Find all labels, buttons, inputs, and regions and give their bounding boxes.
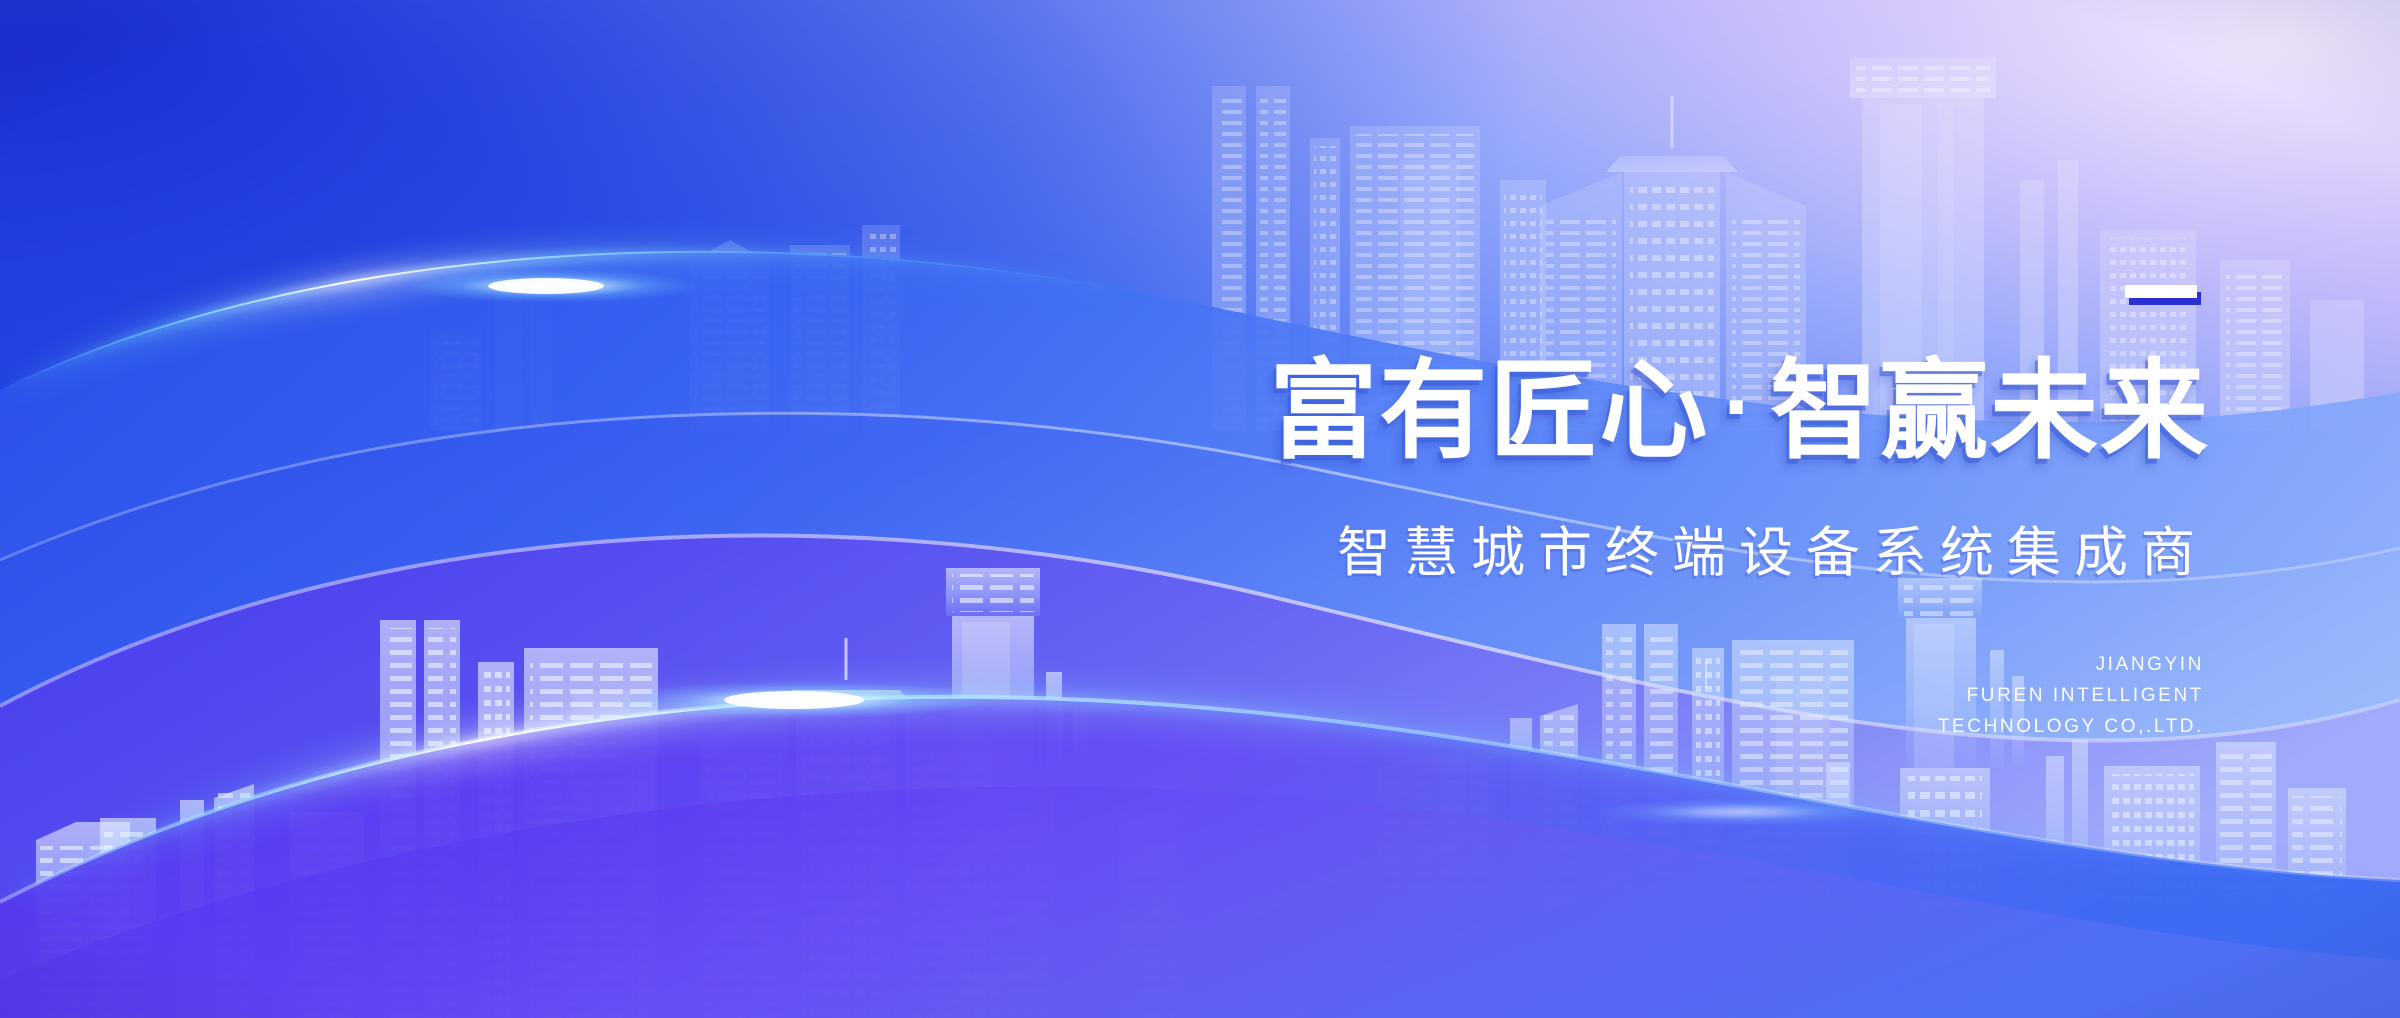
vignette-overlay bbox=[0, 0, 2400, 1018]
promotional-banner: 富有匠心·智赢未来 智慧城市终端设备系统集成商 JIANGYIN FUREN I… bbox=[0, 0, 2400, 1018]
